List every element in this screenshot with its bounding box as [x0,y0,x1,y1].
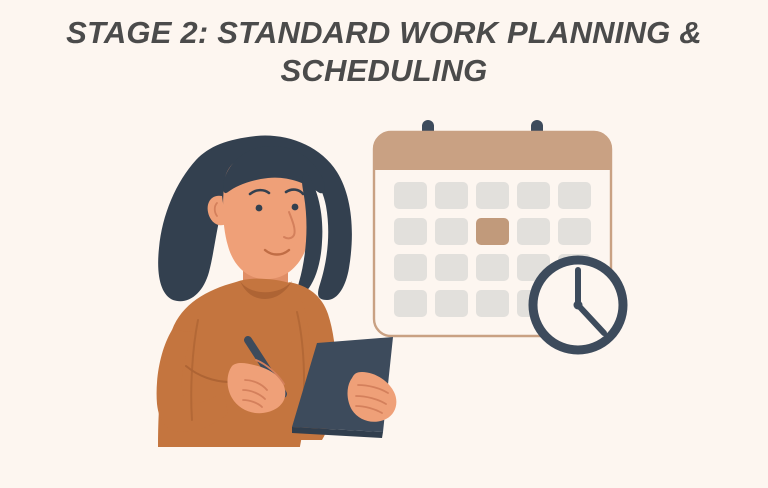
clock-icon [533,260,623,350]
calendar-cell-active [476,218,509,245]
calendar-cell [558,182,591,209]
calendar-cell [435,218,468,245]
calendar-cell [435,290,468,317]
eye-right [292,204,299,211]
illustration-canvas: STAGE 2: STANDARD WORK PLANNING & SCHEDU… [0,0,768,488]
calendar-cell [476,254,509,281]
calendar-cell [517,218,550,245]
person-graphic [157,136,397,447]
illustration-artwork [0,0,768,488]
calendar-cell [435,182,468,209]
calendar-cell [476,290,509,317]
calendar-cell [394,182,427,209]
calendar-cell [394,290,427,317]
calendar-cell [435,254,468,281]
calendar-cell [476,182,509,209]
calendar-cell [394,218,427,245]
calendar-cell [394,254,427,281]
eye-left [256,205,263,212]
calendar-cell [517,182,550,209]
calendar-header-band [374,132,611,170]
calendar-cell [558,218,591,245]
clock-center-pin [574,301,583,310]
